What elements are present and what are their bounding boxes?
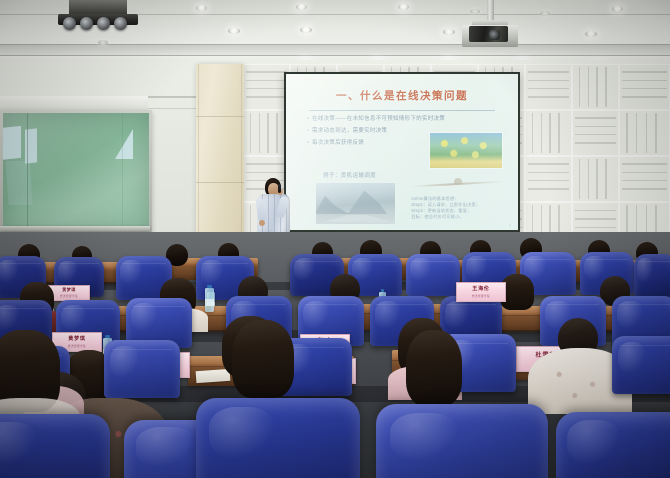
auditorium-chair[interactable] bbox=[556, 412, 670, 478]
acoustic-panel bbox=[572, 110, 619, 156]
lecture-hall-photo: 一、什么是在线决策问题 • 在线决策——在未知信息不可预知情形下的实时决策 • … bbox=[0, 0, 670, 478]
auditorium-chair[interactable] bbox=[376, 404, 548, 478]
projector-mount-pole bbox=[487, 0, 494, 22]
acoustic-panel bbox=[619, 110, 670, 156]
auditorium-chair[interactable] bbox=[0, 414, 110, 478]
photo-hill bbox=[316, 194, 349, 214]
spotlight-lamp bbox=[114, 17, 127, 30]
placard-subtitle: 经济管理学院 bbox=[472, 294, 490, 298]
acoustic-panel bbox=[619, 64, 670, 110]
acoustic-panel bbox=[572, 156, 619, 202]
spotlight-lamp bbox=[97, 17, 110, 30]
acoustic-panel bbox=[525, 156, 572, 202]
slide-body-text: online算法的基本思想： Step1：读入请求，立即作出决策； Step2：… bbox=[411, 196, 513, 220]
placard-name: 黄梦琪 bbox=[62, 288, 76, 292]
recessed-downlight bbox=[196, 5, 207, 11]
auditorium-chair[interactable] bbox=[196, 398, 360, 478]
bullet-text: 需求动态到达，需要实时决策 bbox=[312, 128, 387, 135]
presenter-hand bbox=[259, 220, 265, 226]
acoustic-panel bbox=[572, 64, 619, 110]
slide-landscape-photo bbox=[316, 183, 395, 224]
placard-subtitle: 经济管理学院 bbox=[60, 294, 78, 298]
recessed-downlight bbox=[98, 40, 108, 45]
name-placard: 王海伦 经济管理学院 bbox=[456, 282, 506, 302]
photo-road bbox=[322, 215, 391, 222]
water-bottle bbox=[205, 288, 214, 312]
ceiling-beam bbox=[0, 44, 670, 56]
track-light-fixture bbox=[58, 0, 138, 32]
bullet-dot-icon: • bbox=[307, 116, 309, 122]
slide-example-label: 例子：货机运输调度 bbox=[323, 171, 376, 179]
bullet-text: 在线决策——在未知信息不可预知情形下的实时决策 bbox=[312, 116, 445, 123]
slide-title-rule bbox=[309, 110, 495, 111]
recessed-downlight bbox=[300, 27, 312, 33]
paper-handout bbox=[196, 369, 231, 383]
bullet-dot-icon: • bbox=[307, 128, 309, 134]
auditorium-chair[interactable] bbox=[634, 254, 670, 298]
recessed-downlight bbox=[228, 28, 240, 34]
projector-lens bbox=[489, 30, 500, 40]
acoustic-panel bbox=[243, 110, 290, 156]
slide-page-number: 1 bbox=[509, 223, 511, 227]
bullet-dot-icon: • bbox=[307, 140, 309, 146]
chalkboard-glare bbox=[5, 161, 32, 205]
track-light-plate bbox=[69, 0, 127, 15]
auditorium-chair[interactable] bbox=[104, 340, 180, 398]
slide-field-photo bbox=[430, 133, 502, 167]
chalkboard-rail bbox=[0, 226, 150, 231]
acoustic-panel bbox=[525, 64, 572, 110]
placard-name: 王海伦 bbox=[472, 287, 489, 292]
slide-glider-graphic bbox=[411, 177, 504, 191]
microphone bbox=[278, 184, 281, 193]
foreground-student-head bbox=[406, 330, 462, 406]
auditorium-chair[interactable] bbox=[406, 254, 460, 296]
chalkboard-glare bbox=[115, 129, 133, 159]
slide-bullet: • 在线决策——在未知信息不可预知情形下的实时决策 bbox=[307, 116, 500, 123]
green-chalkboard bbox=[3, 113, 149, 231]
chalkboard-glare bbox=[3, 126, 21, 160]
chalkboard-frame bbox=[0, 110, 152, 234]
acoustic-panel bbox=[243, 64, 290, 110]
photo-hill bbox=[348, 190, 387, 214]
recessed-downlight bbox=[585, 31, 597, 37]
recessed-downlight bbox=[540, 11, 550, 16]
projection-screen-frame: 一、什么是在线决策问题 • 在线决策——在未知信息不可预知情形下的实时决策 • … bbox=[284, 72, 520, 232]
recessed-downlight bbox=[296, 4, 307, 10]
chalkboard-header bbox=[0, 96, 148, 111]
name-placard: 黄梦琪 经济管理学院 bbox=[48, 285, 90, 301]
placard-subtitle: 经济管理学院 bbox=[68, 344, 86, 348]
recessed-downlight bbox=[612, 6, 623, 12]
wall-column bbox=[196, 64, 244, 240]
placard-name: 黄梦琪 bbox=[68, 337, 85, 342]
recessed-downlight bbox=[443, 29, 455, 35]
spotlight-lamp bbox=[63, 17, 76, 30]
bullet-text: 每次决策后获得反馈 bbox=[312, 140, 364, 147]
recessed-downlight bbox=[398, 4, 409, 10]
slide-title: 一、什么是在线决策问题 bbox=[286, 88, 518, 103]
projection-screen: 一、什么是在线决策问题 • 在线决策——在未知信息不可预知情形下的实时决策 • … bbox=[286, 74, 518, 230]
spotlight-lamp bbox=[80, 17, 93, 30]
acoustic-panel bbox=[525, 110, 572, 156]
foreground-student-head bbox=[232, 320, 294, 398]
glider-fuselage bbox=[454, 178, 462, 185]
auditorium-chair[interactable] bbox=[612, 336, 670, 394]
acoustic-panel bbox=[619, 156, 670, 202]
ceiling-projector bbox=[462, 0, 518, 50]
